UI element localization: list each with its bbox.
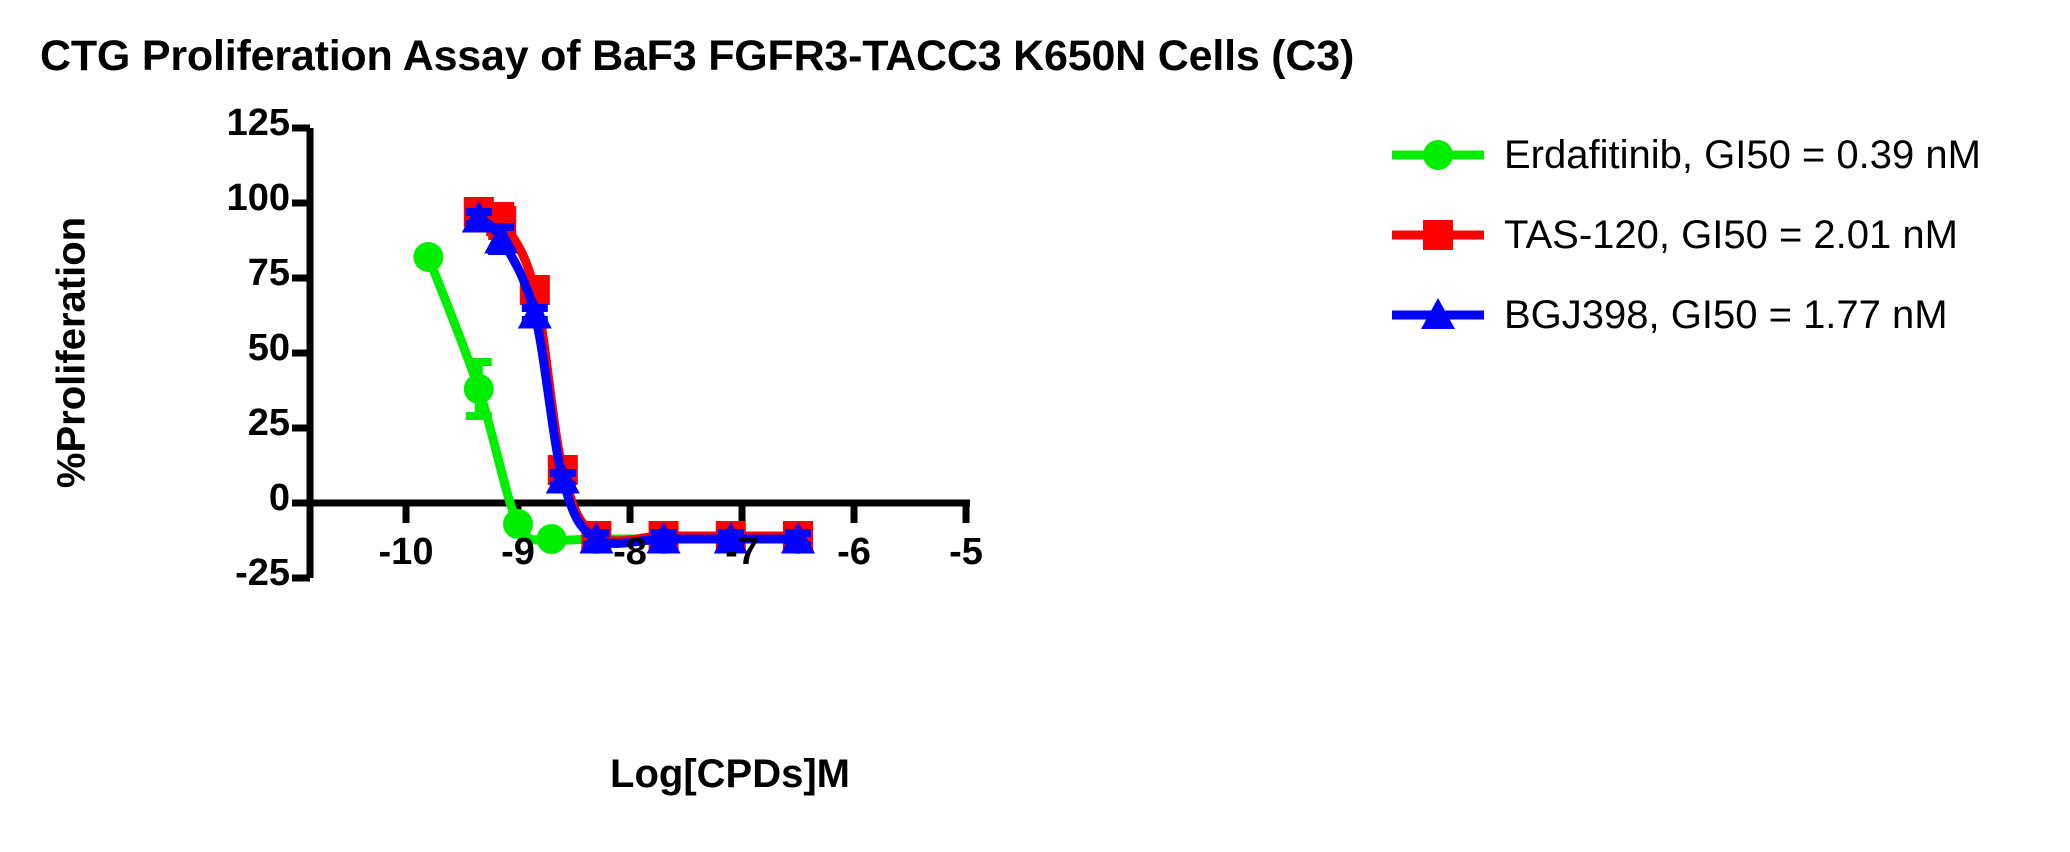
y-tick-label: 75 — [110, 252, 290, 295]
y-tick-label: 25 — [110, 402, 290, 445]
data-point-marker — [413, 242, 443, 272]
legend-item-label: Erdafitinib, GI50 = 0.39 nM — [1504, 133, 1981, 178]
x-tick-label: -9 — [458, 531, 578, 574]
x-tick-label: -10 — [346, 531, 466, 574]
y-tick-label: 100 — [110, 177, 290, 220]
series-erdafitinib — [413, 242, 813, 554]
axis-lines — [292, 128, 970, 578]
x-tick-label: -6 — [794, 531, 914, 574]
legend-square-marker-icon — [1390, 213, 1486, 257]
x-tick-label: -8 — [570, 531, 690, 574]
chart-legend: Erdafitinib, GI50 = 0.39 nMTAS-120, GI50… — [1390, 128, 1981, 342]
y-tick-label: 125 — [110, 102, 290, 145]
legend-item-0[interactable]: Erdafitinib, GI50 = 0.39 nM — [1390, 128, 1981, 182]
y-tick-label: -25 — [110, 552, 290, 595]
y-tick-label: 50 — [110, 327, 290, 370]
x-tick-label: -7 — [682, 531, 802, 574]
legend-item-label: TAS-120, GI50 = 2.01 nM — [1504, 213, 1958, 258]
plot-area: %Proliferation Log[CPDs]M -2502550751001… — [0, 0, 1330, 852]
chart-figure: CTG Proliferation Assay of BaF3 FGFR3-TA… — [0, 0, 2070, 852]
legend-circle-marker-icon — [1390, 133, 1486, 177]
legend-triangle-marker-icon — [1390, 293, 1486, 337]
fit-curve — [479, 212, 798, 541]
legend-item-1[interactable]: TAS-120, GI50 = 2.01 nM — [1390, 208, 1981, 262]
legend-item-label: BGJ398, GI50 = 1.77 nM — [1504, 293, 1948, 338]
y-tick-label: 0 — [110, 477, 290, 520]
data-point-marker — [464, 374, 494, 404]
legend-item-2[interactable]: BGJ398, GI50 = 1.77 nM — [1390, 288, 1981, 342]
x-tick-label: -5 — [906, 531, 1026, 574]
